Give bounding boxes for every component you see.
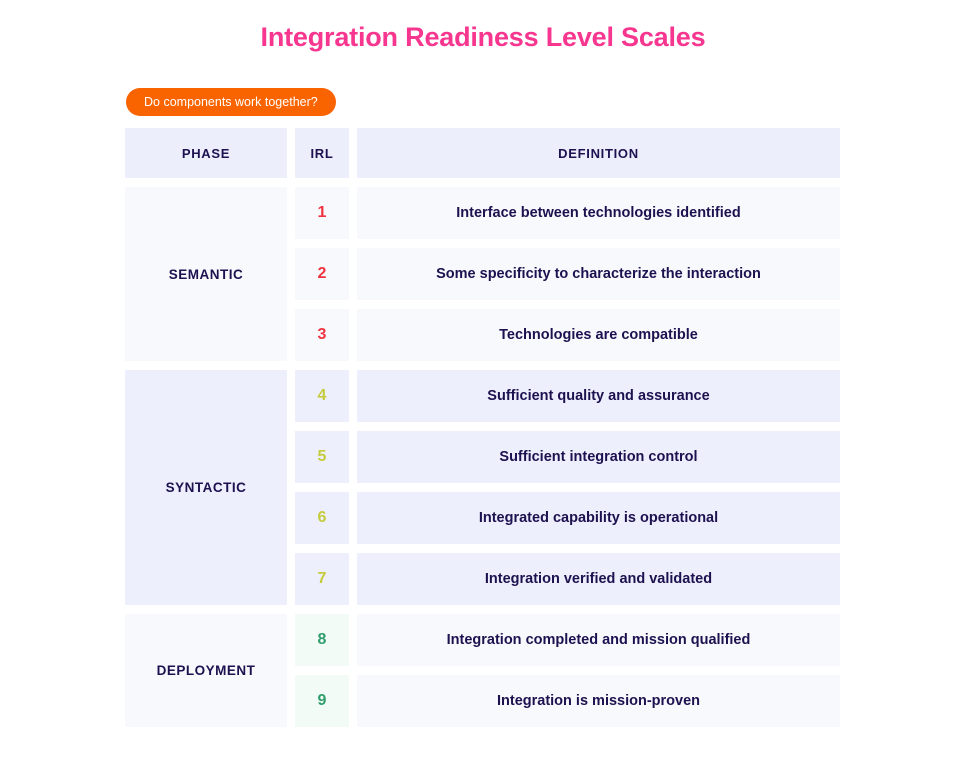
definition-text: Integration completed and mission qualif… — [357, 614, 840, 666]
definition-text: Integrated capability is operational — [357, 492, 840, 544]
phase-rows-syntactic: 4 Sufficient quality and assurance 5 Suf… — [295, 370, 840, 605]
page-root: Integration Readiness Level Scales Do co… — [0, 0, 966, 758]
phase-label-semantic: SEMANTIC — [125, 187, 287, 361]
phase-group-syntactic: SYNTACTIC 4 Sufficient quality and assur… — [125, 370, 840, 605]
question-badge-label: Do components work together? — [144, 95, 318, 109]
table-row: 6 Integrated capability is operational — [295, 492, 840, 544]
irl-number: 2 — [295, 248, 349, 300]
definition-text: Integration is mission-proven — [357, 675, 840, 727]
irl-number: 4 — [295, 370, 349, 422]
irl-number: 7 — [295, 553, 349, 605]
phase-group-semantic: SEMANTIC 1 Interface between technologie… — [125, 187, 840, 361]
table-row: 1 Interface between technologies identif… — [295, 187, 840, 239]
table-row: 3 Technologies are compatible — [295, 309, 840, 361]
irl-number: 3 — [295, 309, 349, 361]
irl-number: 1 — [295, 187, 349, 239]
definition-text: Technologies are compatible — [357, 309, 840, 361]
phase-label-syntactic: SYNTACTIC — [125, 370, 287, 605]
irl-number: 8 — [295, 614, 349, 666]
phase-label-deployment: DEPLOYMENT — [125, 614, 287, 727]
definition-text: Some specificity to characterize the int… — [357, 248, 840, 300]
phase-rows-deployment: 8 Integration completed and mission qual… — [295, 614, 840, 727]
table-row: 8 Integration completed and mission qual… — [295, 614, 840, 666]
irl-number: 6 — [295, 492, 349, 544]
phase-group-deployment: DEPLOYMENT 8 Integration completed and m… — [125, 614, 840, 727]
phase-rows-semantic: 1 Interface between technologies identif… — [295, 187, 840, 361]
table-row: 9 Integration is mission-proven — [295, 675, 840, 727]
irl-number: 5 — [295, 431, 349, 483]
definition-text: Interface between technologies identifie… — [357, 187, 840, 239]
table-row: 5 Sufficient integration control — [295, 431, 840, 483]
irl-scale-table: PHASE IRL DEFINITION SEMANTIC 1 Interfac… — [125, 128, 840, 736]
column-header-irl: IRL — [295, 128, 349, 178]
column-header-phase: PHASE — [125, 128, 287, 178]
page-title: Integration Readiness Level Scales — [0, 22, 966, 53]
question-badge: Do components work together? — [126, 88, 336, 116]
table-row: 2 Some specificity to characterize the i… — [295, 248, 840, 300]
irl-number: 9 — [295, 675, 349, 727]
definition-text: Sufficient integration control — [357, 431, 840, 483]
table-header-row: PHASE IRL DEFINITION — [125, 128, 840, 178]
definition-text: Integration verified and validated — [357, 553, 840, 605]
column-header-definition: DEFINITION — [357, 128, 840, 178]
table-row: 7 Integration verified and validated — [295, 553, 840, 605]
table-row: 4 Sufficient quality and assurance — [295, 370, 840, 422]
definition-text: Sufficient quality and assurance — [357, 370, 840, 422]
